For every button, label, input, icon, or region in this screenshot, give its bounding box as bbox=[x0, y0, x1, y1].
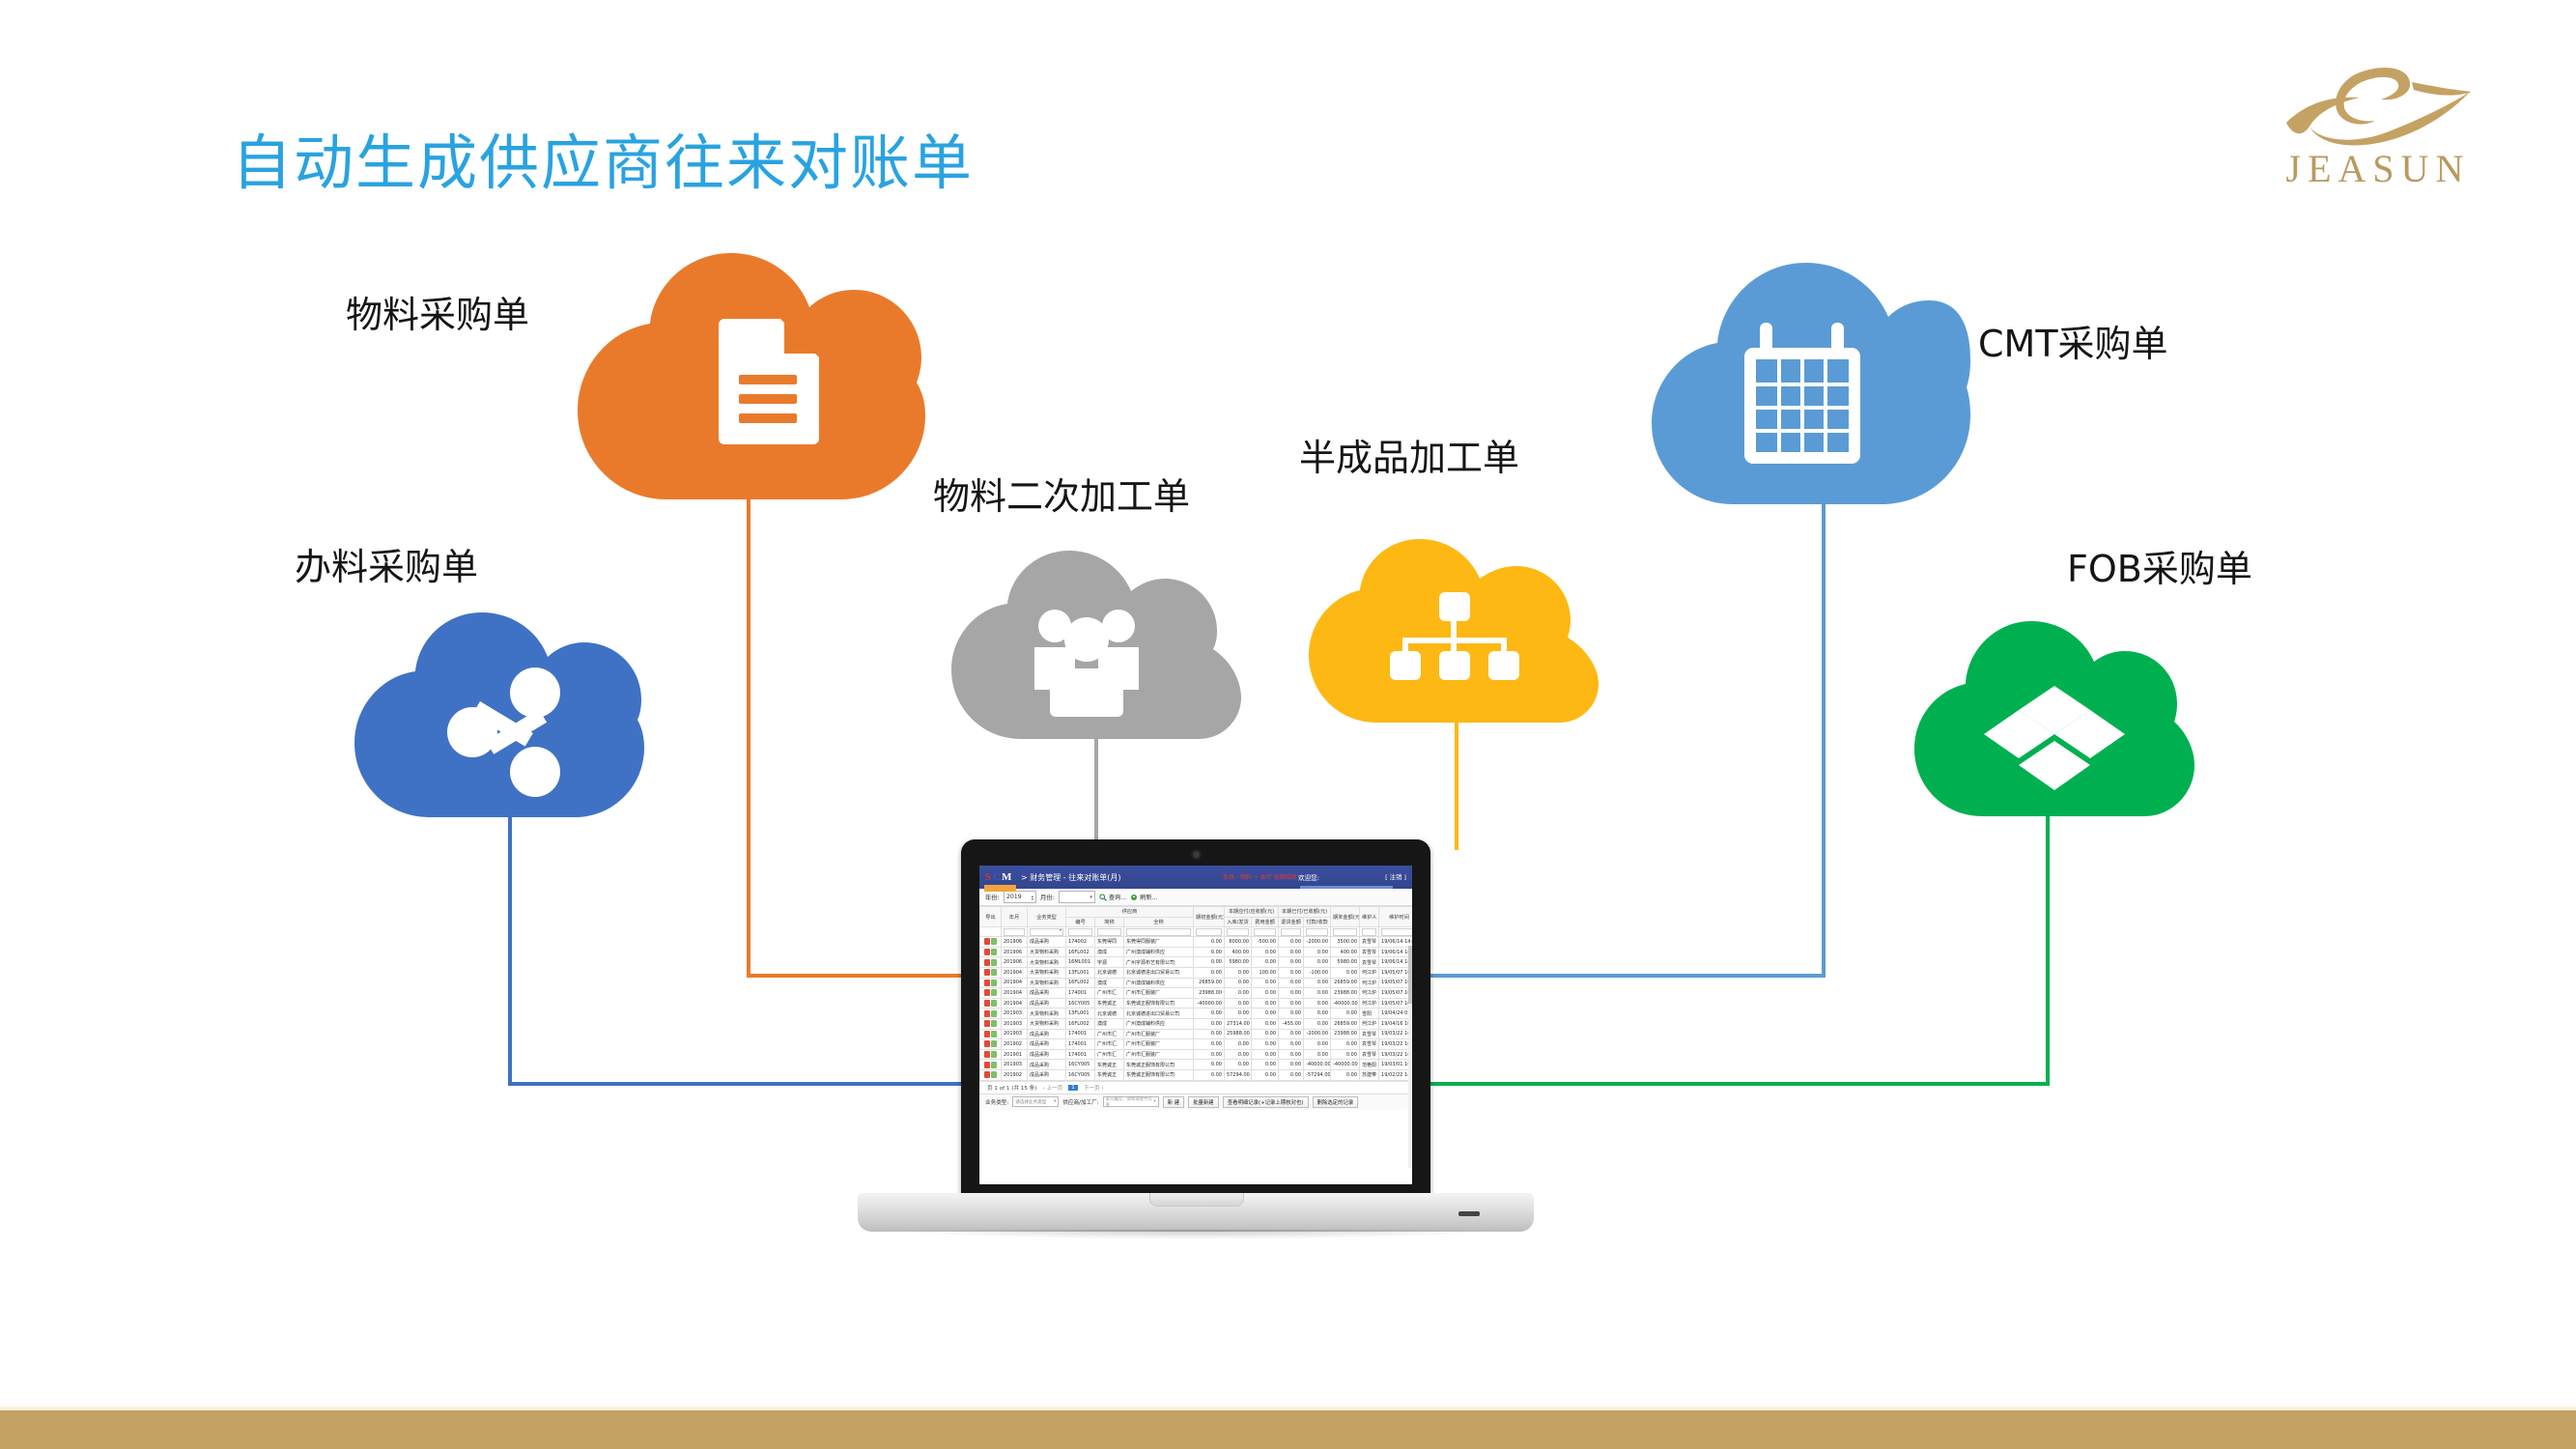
filter-input[interactable] bbox=[1254, 928, 1276, 936]
cell-fee-amount: 0.00 bbox=[1252, 1049, 1279, 1060]
filter-cell[interactable] bbox=[1028, 927, 1066, 937]
export-icons-cell[interactable] bbox=[980, 1039, 1002, 1050]
cell-closing-amount: 26859.00 bbox=[1331, 1018, 1360, 1029]
next-page-button[interactable]: 下一页 › bbox=[1084, 1084, 1104, 1092]
cell-year-month: 201903 bbox=[1002, 1060, 1028, 1070]
export-icons-cell[interactable] bbox=[980, 998, 1002, 1009]
cell-opening-amount: 23988.00 bbox=[1194, 988, 1225, 999]
cell-payment-amount: 0.00 bbox=[1304, 998, 1331, 1009]
export-icons-cell[interactable] bbox=[980, 947, 1002, 957]
table-row[interactable]: 201903大货物料采购13FL001北京诚德北京诚德进出口贸易公司0.000.… bbox=[980, 1009, 1413, 1019]
vertical-scrollbar[interactable] bbox=[1408, 946, 1412, 1168]
cell-business-type: 大货物料采购 bbox=[1028, 1009, 1066, 1019]
table-head: 导出 年月 业务类型 供应商 期初金额(元) 本期应付/应收额(元) 本期已付/… bbox=[980, 907, 1413, 927]
cell-supplier-short: 东莞诚正 bbox=[1095, 998, 1124, 1009]
cell-year-month: 201903 bbox=[1002, 1018, 1028, 1029]
cell-supplier-full: 北京诚德进出口贸易公司 bbox=[1124, 1009, 1194, 1019]
excel-export-icon[interactable] bbox=[991, 1000, 997, 1007]
cell-supplier-short: 广州市汇 bbox=[1095, 1039, 1124, 1050]
cell-business-type: 成品采购 bbox=[1028, 937, 1066, 948]
export-icons-cell[interactable] bbox=[980, 1009, 1002, 1019]
cell-maintainer: 袁雪琴 bbox=[1360, 1029, 1379, 1039]
pagination-bar: 页 1 of 1 (共 15 条) ‹ 上一页 1 下一页 › bbox=[979, 1081, 1412, 1094]
cell-inbound-amount: 0.00 bbox=[1225, 1060, 1252, 1070]
excel-export-icon[interactable] bbox=[991, 1020, 997, 1027]
cell-maintainer: 何江炉 bbox=[1360, 988, 1379, 999]
table-row[interactable]: 201906大货物料采购16ML001宇源广州宇源布艺有限公司0.005980.… bbox=[980, 957, 1413, 968]
cell-return-amount: 0.00 bbox=[1279, 1069, 1304, 1080]
table-filter-row[interactable] bbox=[980, 927, 1413, 937]
chevron-down-icon: ▾ bbox=[1054, 1099, 1056, 1104]
th-fee-amount[interactable]: 费用金额 bbox=[1252, 917, 1279, 927]
new-button[interactable]: 新 建 bbox=[1163, 1096, 1185, 1108]
cell-payment-amount: 0.00 bbox=[1304, 1039, 1331, 1050]
webcam-icon bbox=[1193, 851, 1200, 858]
cell-supplier-code: 174001 bbox=[1066, 1029, 1095, 1039]
filter-input[interactable] bbox=[1306, 928, 1328, 936]
cloud-semi-finished-process[interactable] bbox=[1309, 539, 1599, 723]
cell-fee-amount: 0.00 bbox=[1252, 1009, 1279, 1019]
cell-fee-amount: 0.00 bbox=[1252, 978, 1279, 988]
cell-closing-amount: 0.00 bbox=[1331, 967, 1360, 978]
cell-inbound-amount: 0.00 bbox=[1225, 978, 1252, 988]
cell-maintain-time: 19/05/07 16:34 bbox=[1379, 978, 1412, 988]
cell-payment-amount: -57294.00 bbox=[1304, 1069, 1331, 1080]
cell-maintain-time: 19/02/22 14:42 bbox=[1379, 1069, 1412, 1080]
cell-payment-amount: 0.00 bbox=[1304, 947, 1331, 957]
excel-export-icon[interactable] bbox=[991, 938, 997, 945]
filter-cell[interactable] bbox=[1124, 927, 1194, 937]
table-body: 201906成品采购174002东莞得同东莞得同服装厂0.006000.00-5… bbox=[980, 927, 1413, 1080]
cell-maintain-time: 19/03/22 16:05 bbox=[1379, 1029, 1412, 1039]
cell-fee-amount: 0.00 bbox=[1252, 1060, 1279, 1070]
table-row[interactable]: 201902成品采购174001广州市汇广州市汇服装厂0.000.000.000… bbox=[980, 1039, 1413, 1050]
cell-supplier-full: 东莞得同服装厂 bbox=[1124, 937, 1194, 948]
table-row[interactable]: 201906成品采购174002东莞得同东莞得同服装厂0.006000.00-5… bbox=[980, 937, 1413, 948]
view-detail-button[interactable]: 查看明细记录(+记录上期核对也) bbox=[1223, 1096, 1309, 1108]
th-maintain-time[interactable]: 维护时间 bbox=[1379, 907, 1412, 927]
cell-business-type: 大货物料采购 bbox=[1028, 1018, 1066, 1029]
header-notice: 系统 - 物料 + 本年 账期结转 bbox=[1223, 872, 1297, 881]
cell-business-type: 成品采购 bbox=[1028, 1069, 1066, 1080]
cell-return-amount: 0.00 bbox=[1279, 1039, 1304, 1050]
filter-input[interactable] bbox=[1097, 928, 1121, 936]
cloud-fob-purchase[interactable] bbox=[1914, 618, 2194, 816]
cell-payment-amount: 0.00 bbox=[1304, 978, 1331, 988]
current-page[interactable]: 1 bbox=[1068, 1085, 1078, 1091]
cell-supplier-code: 16CY005 bbox=[1066, 998, 1095, 1009]
filter-input[interactable] bbox=[1362, 928, 1376, 936]
th-export[interactable]: 导出 bbox=[980, 907, 1002, 927]
filter-input[interactable] bbox=[1126, 928, 1191, 936]
search-button-label: 查询... bbox=[1109, 893, 1126, 901]
cell-return-amount: 0.00 bbox=[1279, 967, 1304, 978]
th-supplier-short[interactable]: 简称 bbox=[1095, 917, 1124, 927]
year-value: 2019 bbox=[1006, 894, 1022, 900]
filter-cell[interactable] bbox=[1304, 927, 1331, 937]
th-supplier-code[interactable]: 编号 bbox=[1066, 917, 1095, 927]
filter-cell[interactable] bbox=[1331, 927, 1360, 937]
table-row[interactable]: 201906大货物料采购16FL002澳成广州澳成辅料供应0.00400.000… bbox=[980, 947, 1413, 957]
excel-export-icon[interactable] bbox=[991, 1040, 997, 1047]
cell-supplier-code: 16FL002 bbox=[1066, 978, 1095, 988]
pdf-export-icon[interactable] bbox=[984, 1071, 990, 1078]
cell-inbound-amount: 0.00 bbox=[1225, 988, 1252, 999]
cloud-label-cmt-purchase: CMT采购单 bbox=[1978, 314, 2168, 367]
laptop-base-led bbox=[1458, 1211, 1480, 1216]
cell-return-amount: 0.00 bbox=[1279, 937, 1304, 948]
excel-export-icon[interactable] bbox=[991, 1071, 997, 1078]
th-maintainer[interactable]: 维护人 bbox=[1360, 907, 1379, 927]
query-toolbar: 年份: 2019 ▴▾ 月份: ▾ 查询... bbox=[979, 889, 1412, 906]
pdf-export-icon[interactable] bbox=[984, 989, 990, 996]
export-icons-cell[interactable] bbox=[980, 988, 1002, 999]
cell-payment-amount: 0.00 bbox=[1304, 988, 1331, 999]
cell-year-month: 201902 bbox=[1002, 1069, 1028, 1080]
pdf-export-icon[interactable] bbox=[984, 1020, 990, 1027]
year-label: 年份: bbox=[985, 893, 1000, 901]
cell-maintainer: 苏建带 bbox=[1360, 1069, 1379, 1080]
table-row[interactable]: 201904成品采购174001广州市汇广州市汇服装厂23988.000.000… bbox=[980, 988, 1413, 999]
export-icons-cell[interactable] bbox=[980, 1018, 1002, 1029]
cell-fee-amount: 0.00 bbox=[1252, 957, 1279, 968]
cell-inbound-amount: 5980.00 bbox=[1225, 957, 1252, 968]
cell-fee-amount: 0.00 bbox=[1252, 1039, 1279, 1050]
cell-supplier-code: 13FL001 bbox=[1066, 1009, 1095, 1019]
cell-supplier-short: 澳成 bbox=[1095, 978, 1124, 988]
cell-closing-amount: 0.00 bbox=[1331, 1009, 1360, 1019]
cloud-material-second-process[interactable] bbox=[951, 551, 1241, 739]
cloud-ban-material-purchase[interactable] bbox=[354, 612, 644, 817]
cell-maintainer: 袁雪琴 bbox=[1360, 937, 1379, 948]
cell-return-amount: -455.00 bbox=[1279, 1018, 1304, 1029]
laptop-shadow bbox=[896, 1230, 1495, 1239]
cell-year-month: 201902 bbox=[1002, 1039, 1028, 1050]
cell-maintain-time: 19/04/24 01:42 bbox=[1379, 1009, 1412, 1019]
export-icons-cell[interactable] bbox=[980, 1060, 1002, 1070]
cell-maintainer: 何江炉 bbox=[1360, 1018, 1379, 1029]
filter-cell[interactable] bbox=[1095, 927, 1124, 937]
cell-supplier-code: 174002 bbox=[1066, 937, 1095, 948]
cell-business-type: 大货物料采购 bbox=[1028, 978, 1066, 988]
cell-fee-amount: 0.00 bbox=[1252, 1069, 1279, 1080]
cell-return-amount: 0.00 bbox=[1279, 1009, 1304, 1019]
th-business-type[interactable]: 业务类型 bbox=[1028, 907, 1066, 927]
excel-export-icon[interactable] bbox=[991, 1031, 997, 1037]
table-row[interactable]: 201904大货物料采购16FL002澳成广州澳成辅料供应26859.000.0… bbox=[980, 978, 1413, 988]
cloud-label-material-purchase: 物料采购单 bbox=[346, 285, 529, 338]
cell-maintain-time: 19/06/14 14:17 bbox=[1379, 937, 1412, 948]
cell-maintain-time: 19/06/14 14:17 bbox=[1379, 947, 1412, 957]
cell-inbound-amount: 0.00 bbox=[1225, 998, 1252, 1009]
cell-closing-amount: 0.00 bbox=[1331, 1069, 1360, 1080]
table-row[interactable]: 201904成品采购16CY005东莞诚正东莞诚正服饰有限公司-40000.00… bbox=[980, 998, 1413, 1009]
cell-supplier-code: 16CY005 bbox=[1066, 1069, 1095, 1080]
filter-input[interactable] bbox=[1333, 928, 1357, 936]
cell-fee-amount: 0.00 bbox=[1252, 947, 1279, 957]
cell-business-type: 大货物料采购 bbox=[1028, 947, 1066, 957]
refresh-button[interactable]: 刷新... bbox=[1130, 893, 1157, 901]
cell-maintain-time: 19/03/22 16:01 bbox=[1379, 1039, 1412, 1050]
cell-payment-amount: 0.00 bbox=[1304, 1018, 1331, 1029]
cell-year-month: 201903 bbox=[1002, 1009, 1028, 1019]
cell-supplier-full: 广州市汇服装厂 bbox=[1124, 1039, 1194, 1050]
export-icons-cell[interactable] bbox=[980, 1049, 1002, 1060]
pdf-export-icon[interactable] bbox=[984, 1062, 990, 1068]
th-closing-amount[interactable]: 期末金额(元) bbox=[1331, 907, 1360, 927]
pdf-export-icon[interactable] bbox=[984, 1010, 990, 1017]
logout-link[interactable]: [ 注销 ] bbox=[1385, 872, 1406, 881]
table-row[interactable]: 201903大货物料采购16FL002澳成广州澳成辅料供应0.0027314.0… bbox=[980, 1018, 1413, 1029]
cell-year-month: 201904 bbox=[1002, 988, 1028, 999]
active-tab-highlight bbox=[1300, 886, 1393, 889]
cell-closing-amount: 0.00 bbox=[1331, 1049, 1360, 1060]
excel-export-icon[interactable] bbox=[991, 959, 997, 966]
cell-inbound-amount: 25988.00 bbox=[1225, 1029, 1252, 1039]
cell-opening-amount: 0.00 bbox=[1194, 947, 1225, 957]
cell-supplier-short: 东莞诚正 bbox=[1095, 1060, 1124, 1070]
excel-export-icon[interactable] bbox=[991, 1051, 997, 1058]
th-opening-amount[interactable]: 期初金额(元) bbox=[1194, 907, 1225, 927]
filter-cell[interactable] bbox=[1225, 927, 1252, 937]
th-year-month[interactable]: 年月 bbox=[1002, 907, 1028, 927]
stepper-arrows-icon[interactable]: ▴▾ bbox=[1032, 895, 1033, 900]
export-icons-cell[interactable] bbox=[980, 1029, 1002, 1039]
cell-return-amount: 0.00 bbox=[1279, 988, 1304, 999]
cell-payment-amount: -2000.00 bbox=[1304, 937, 1331, 948]
pdf-export-icon[interactable] bbox=[984, 969, 990, 976]
cell-closing-amount: 5980.00 bbox=[1331, 957, 1360, 968]
delete-selected-button[interactable]: 删除选定的记录 bbox=[1313, 1096, 1359, 1108]
table-row[interactable]: 201903成品采购174001广州市汇广州市汇服装厂0.0025988.000… bbox=[980, 1029, 1413, 1039]
cloud-cmt-purchase[interactable] bbox=[1652, 263, 1970, 504]
pdf-export-icon[interactable] bbox=[984, 1040, 990, 1047]
pdf-export-icon[interactable] bbox=[984, 1031, 990, 1037]
excel-export-icon[interactable] bbox=[991, 969, 997, 976]
export-icons-cell[interactable] bbox=[980, 1069, 1002, 1080]
cell-return-amount: 0.00 bbox=[1279, 947, 1304, 957]
th-supplier-group: 供应商 bbox=[1066, 907, 1194, 918]
cell-maintain-time: 19/03/22 16:01 bbox=[1379, 1049, 1412, 1060]
filter-cell[interactable] bbox=[1002, 927, 1028, 937]
export-icons-cell[interactable] bbox=[980, 967, 1002, 978]
cell-fee-amount: 0.00 bbox=[1252, 988, 1279, 999]
cell-year-month: 201904 bbox=[1002, 967, 1028, 978]
filter-cell[interactable] bbox=[1379, 927, 1412, 937]
cell-supplier-short: 北京诚德 bbox=[1095, 967, 1124, 978]
cell-supplier-short: 广州市汇 bbox=[1095, 988, 1124, 999]
cell-opening-amount: 0.00 bbox=[1194, 957, 1225, 968]
cell-closing-amount: 26859.00 bbox=[1331, 978, 1360, 988]
excel-export-icon[interactable] bbox=[991, 1010, 997, 1017]
month-label: 月份: bbox=[1040, 893, 1055, 901]
cell-maintainer: 袁雪琴 bbox=[1360, 957, 1379, 968]
cell-supplier-code: 174001 bbox=[1066, 988, 1095, 999]
cell-closing-amount: -40000.00 bbox=[1331, 998, 1360, 1009]
filter-cell[interactable] bbox=[1066, 927, 1095, 937]
cell-payment-amount: 0.00 bbox=[1304, 957, 1331, 968]
cell-maintainer: 袁雪琴 bbox=[1360, 1049, 1379, 1060]
table-row[interactable]: 201901成品采购174001广州市汇广州市汇服装厂0.000.000.000… bbox=[980, 1049, 1413, 1060]
refresh-icon bbox=[1130, 894, 1138, 901]
filter-cell[interactable] bbox=[1194, 927, 1225, 937]
cloud-material-purchase[interactable] bbox=[578, 253, 925, 499]
cell-maintainer: 何江炉 bbox=[1360, 978, 1379, 988]
cell-fee-amount: 0.00 bbox=[1252, 1029, 1279, 1039]
cell-return-amount: 0.00 bbox=[1279, 978, 1304, 988]
th-supplier-full[interactable]: 全称 bbox=[1124, 917, 1194, 927]
month-select[interactable]: ▾ bbox=[1059, 891, 1095, 903]
th-paid-group: 本期已付/已收额(元) bbox=[1279, 907, 1331, 918]
cell-year-month: 201903 bbox=[1002, 1029, 1028, 1039]
excel-export-icon[interactable] bbox=[991, 980, 997, 986]
cloud-label-material-second-process: 物料二次加工单 bbox=[933, 467, 1190, 520]
cell-supplier-code: 16FL002 bbox=[1066, 947, 1095, 957]
excel-export-icon[interactable] bbox=[991, 1062, 997, 1068]
cell-opening-amount: 0.00 bbox=[1194, 937, 1225, 948]
statement-grid: 导出 年月 业务类型 供应商 期初金额(元) 本期应付/应收额(元) 本期已付/… bbox=[979, 906, 1412, 1081]
export-icons-cell[interactable] bbox=[980, 957, 1002, 968]
pdf-export-icon[interactable] bbox=[984, 959, 990, 966]
cell-closing-amount: 0.00 bbox=[1331, 1039, 1360, 1050]
cell-fee-amount: 0.00 bbox=[1252, 998, 1279, 1009]
cell-return-amount: 0.00 bbox=[1279, 998, 1304, 1009]
filter-input[interactable] bbox=[1381, 928, 1412, 936]
cell-supplier-code: 16ML001 bbox=[1066, 957, 1095, 968]
cell-opening-amount: 0.00 bbox=[1194, 1029, 1225, 1039]
cell-year-month: 201904 bbox=[1002, 978, 1028, 988]
business-type-select[interactable]: 请选择业务类型 ▾ bbox=[1012, 1096, 1059, 1107]
th-payable-group: 本期应付/应收额(元) bbox=[1225, 907, 1279, 918]
cell-year-month: 201906 bbox=[1002, 937, 1028, 948]
cell-return-amount: 0.00 bbox=[1279, 1060, 1304, 1070]
cell-maintainer: 何江炉 bbox=[1360, 998, 1379, 1009]
filter-cell-export bbox=[980, 927, 1002, 937]
pdf-export-icon[interactable] bbox=[984, 938, 990, 945]
cell-maintainer: 雪阳 bbox=[1360, 1009, 1379, 1019]
cell-business-type: 成品采购 bbox=[1028, 1029, 1066, 1039]
cell-closing-amount: 23988.00 bbox=[1331, 988, 1360, 999]
filter-input[interactable] bbox=[1030, 928, 1063, 936]
batch-new-button[interactable]: 批量新建 bbox=[1188, 1096, 1219, 1108]
cell-payment-amount: -2000.00 bbox=[1304, 1029, 1331, 1039]
cell-return-amount: 0.00 bbox=[1279, 957, 1304, 968]
cell-inbound-amount: 400.00 bbox=[1225, 947, 1252, 957]
cell-inbound-amount: 0.00 bbox=[1225, 1009, 1252, 1019]
table-row[interactable]: 201902成品采购16CY005东莞诚正东莞诚正服饰有限公司0.0057294… bbox=[980, 1069, 1413, 1080]
cell-supplier-code: 174001 bbox=[1066, 1049, 1095, 1060]
th-payment[interactable]: 付款/收款 bbox=[1304, 917, 1331, 927]
cell-supplier-full: 广州市汇服装厂 bbox=[1124, 1049, 1194, 1060]
search-icon bbox=[1099, 894, 1107, 901]
cell-supplier-full: 广州澳成辅料供应 bbox=[1124, 1018, 1194, 1029]
cell-year-month: 201906 bbox=[1002, 947, 1028, 957]
cell-opening-amount: 26859.00 bbox=[1194, 978, 1225, 988]
cell-opening-amount: 0.00 bbox=[1194, 1009, 1225, 1019]
th-return-amount[interactable]: 退货金额 bbox=[1279, 917, 1304, 927]
export-icons-cell[interactable] bbox=[980, 937, 1002, 948]
cell-business-type: 成品采购 bbox=[1028, 1060, 1066, 1070]
cell-supplier-full: 东莞诚正服饰有限公司 bbox=[1124, 1060, 1194, 1070]
filter-input[interactable] bbox=[1004, 928, 1025, 936]
cell-supplier-short: 北京诚德 bbox=[1095, 1009, 1124, 1019]
prev-page-button[interactable]: ‹ 上一页 bbox=[1042, 1084, 1062, 1092]
cell-maintainer: 袁雪琴 bbox=[1360, 947, 1379, 957]
cell-year-month: 201906 bbox=[1002, 957, 1028, 968]
refresh-button-label: 刷新... bbox=[1140, 893, 1157, 901]
pdf-export-icon[interactable] bbox=[984, 980, 990, 986]
filter-input[interactable] bbox=[1227, 928, 1249, 936]
cell-maintain-time: 19/05/07 16:33 bbox=[1379, 998, 1412, 1009]
cell-inbound-amount: 0.00 bbox=[1225, 967, 1252, 978]
laptop-screen: SCM > 财务管理 - 往来对账单(月) 系统 - 物料 + 本年 账期结转 … bbox=[979, 866, 1412, 1184]
filter-cell[interactable] bbox=[1279, 927, 1304, 937]
excel-export-icon[interactable] bbox=[991, 989, 997, 996]
cell-opening-amount: -40000.00 bbox=[1194, 998, 1225, 1009]
cell-business-type: 成品采购 bbox=[1028, 1049, 1066, 1060]
filter-input[interactable] bbox=[1196, 928, 1222, 936]
year-stepper[interactable]: 2019 ▴▾ bbox=[1004, 891, 1036, 903]
business-type-value: 请选择业务类型 bbox=[1015, 1099, 1046, 1105]
cell-business-type: 成品采购 bbox=[1028, 988, 1066, 999]
filter-input[interactable] bbox=[1068, 928, 1092, 936]
cell-business-type: 大货物料采购 bbox=[1028, 957, 1066, 968]
cell-year-month: 201904 bbox=[1002, 998, 1028, 1009]
th-inbound[interactable]: 入库/发货 bbox=[1225, 917, 1252, 927]
filter-cell[interactable] bbox=[1252, 927, 1279, 937]
excel-export-icon[interactable] bbox=[991, 949, 997, 955]
cell-closing-amount: 23988.00 bbox=[1331, 1029, 1360, 1039]
export-icons-cell[interactable] bbox=[980, 978, 1002, 988]
cell-supplier-short: 宇源 bbox=[1095, 957, 1124, 968]
supplier-search-input[interactable]: 录入编号、简称或者代号查 ▾ bbox=[1103, 1096, 1159, 1107]
cell-inbound-amount: 6000.00 bbox=[1225, 937, 1252, 948]
supplier-search-placeholder: 录入编号、简称或者代号查 bbox=[1106, 1096, 1154, 1108]
cell-supplier-short: 广州市汇 bbox=[1095, 1029, 1124, 1039]
filter-cell[interactable] bbox=[1360, 927, 1379, 937]
bottom-accent-bar bbox=[0, 1410, 2576, 1449]
cell-supplier-full: 广州澳成辅料供应 bbox=[1124, 978, 1194, 988]
cell-supplier-short: 东莞诚正 bbox=[1095, 1069, 1124, 1080]
cell-maintain-time: 19/05/07 16:33 bbox=[1379, 988, 1412, 999]
pdf-export-icon[interactable] bbox=[984, 949, 990, 955]
pdf-export-icon[interactable] bbox=[984, 1000, 990, 1007]
cell-supplier-full: 广州澳成辅料供应 bbox=[1124, 947, 1194, 957]
filter-input[interactable] bbox=[1281, 928, 1301, 936]
chevron-down-icon: ▾ bbox=[1153, 1099, 1155, 1104]
cloud-label-semi-finished-process: 半成品加工单 bbox=[1299, 428, 1519, 481]
cell-supplier-full: 广州宇源布艺有限公司 bbox=[1124, 957, 1194, 968]
erp-application: SCM > 财务管理 - 往来对账单(月) 系统 - 物料 + 本年 账期结转 … bbox=[979, 866, 1412, 1184]
cell-payment-amount: 0.00 bbox=[1304, 1009, 1331, 1019]
cell-maintainer: 何江炉 bbox=[1360, 967, 1379, 978]
table-row[interactable]: 201904大货物料采购13FL001北京诚德北京诚德进出口贸易公司0.000.… bbox=[980, 967, 1413, 978]
cell-opening-amount: 0.00 bbox=[1194, 1069, 1225, 1080]
search-button[interactable]: 查询... bbox=[1099, 893, 1126, 901]
cloud-label-fob-purchase: FOB采购单 bbox=[2067, 539, 2252, 592]
cell-fee-amount: 0.00 bbox=[1252, 1018, 1279, 1029]
cell-supplier-full: 东莞诚正服饰有限公司 bbox=[1124, 1069, 1194, 1080]
table-row[interactable]: 201903成品采购16CY005东莞诚正东莞诚正服饰有限公司0.000.000… bbox=[980, 1060, 1413, 1070]
cell-supplier-short: 广州市汇 bbox=[1095, 1049, 1124, 1060]
pdf-export-icon[interactable] bbox=[984, 1051, 990, 1058]
slide-canvas: 自动生成供应商往来对账单 JEASUN bbox=[0, 0, 2576, 1449]
cloud-label-ban-material-purchase: 办料采购单 bbox=[295, 537, 478, 590]
cell-inbound-amount: 0.00 bbox=[1225, 1039, 1252, 1050]
statement-table: 导出 年月 业务类型 供应商 期初金额(元) 本期应付/应收额(元) 本期已付/… bbox=[979, 906, 1412, 1081]
cell-payment-amount: -100.00 bbox=[1304, 967, 1331, 978]
cell-inbound-amount: 27314.00 bbox=[1225, 1018, 1252, 1029]
